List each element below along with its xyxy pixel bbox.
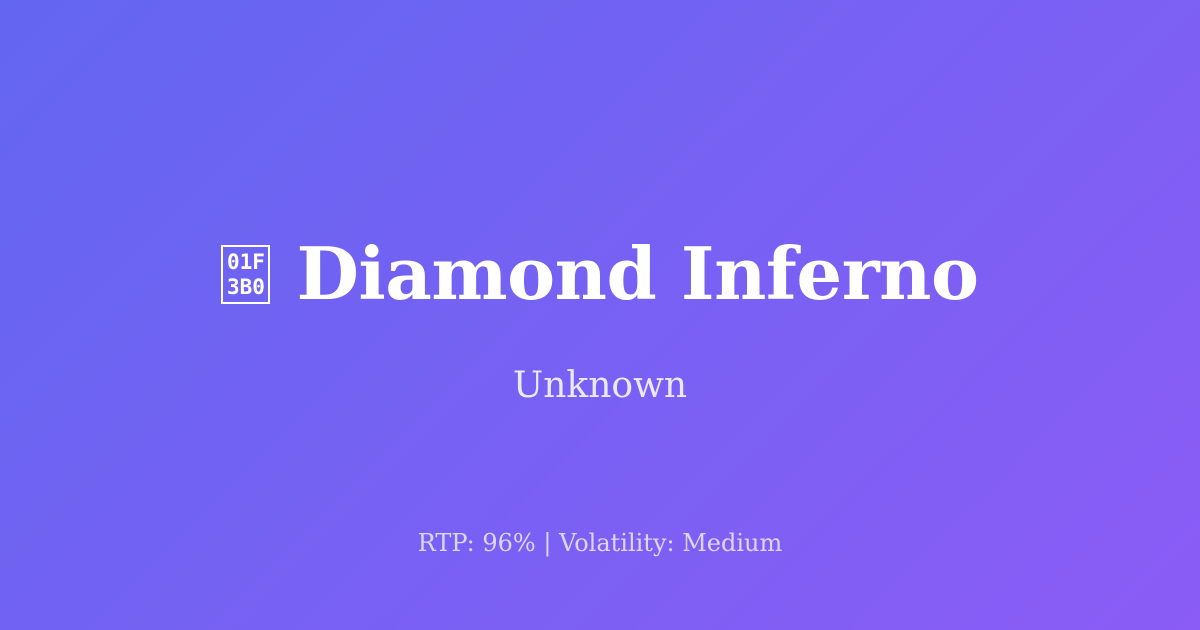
provider-label: Unknown [0,363,1200,409]
title-row: 01F 3B0 Diamond Inferno [0,232,1200,316]
tofu-codepoint-top: 01F [227,250,265,275]
tofu-codepoint-bottom: 3B0 [227,275,265,300]
game-stats-line: RTP: 96% | Volatility: Medium [0,527,1200,559]
slot-machine-icon: 01F 3B0 [221,245,270,304]
game-og-card: 01F 3B0 Diamond Inferno Unknown RTP: 96%… [0,0,1200,630]
page-title: Diamond Inferno [296,234,978,314]
